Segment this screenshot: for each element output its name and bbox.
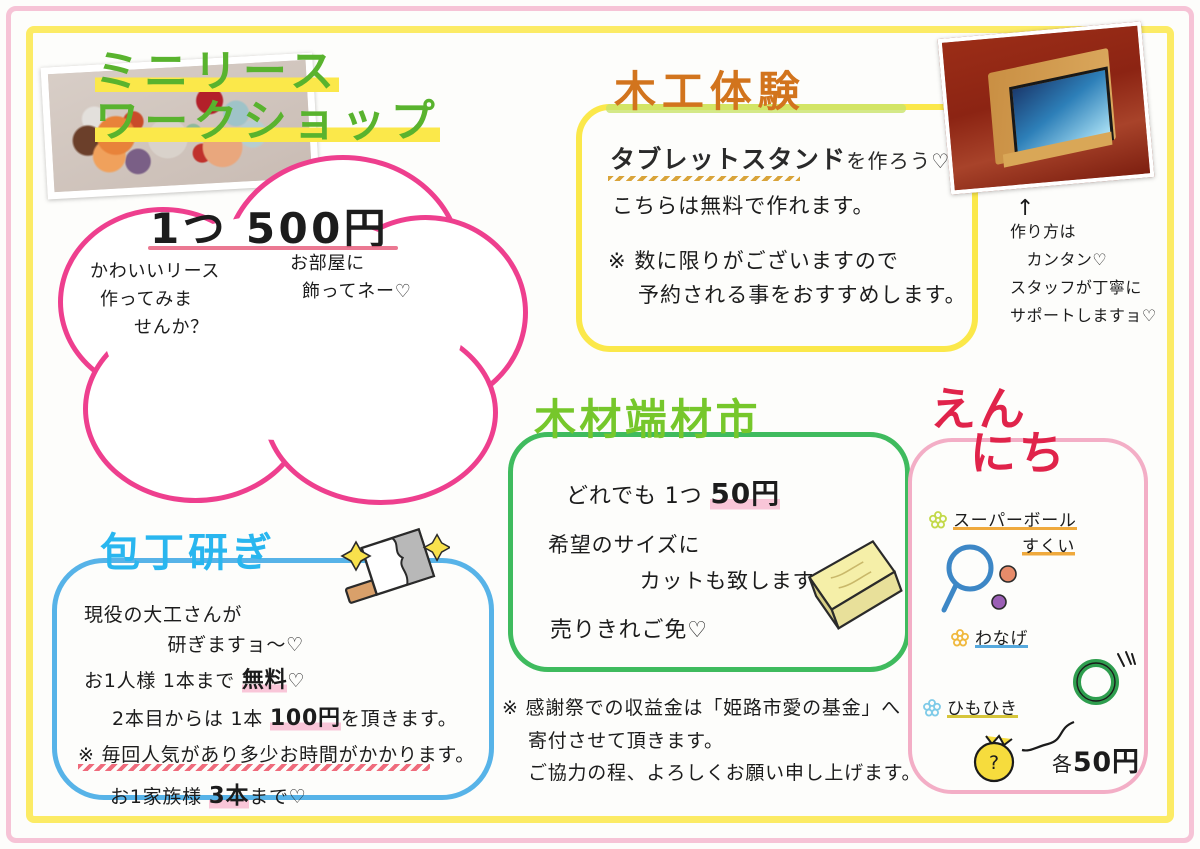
ennichi-title-line2: にち bbox=[970, 432, 1068, 476]
lumber-line2a: 希望のサイズに bbox=[548, 528, 834, 564]
donation-line3: ご協力の程、よろしくお願い申し上げます。 bbox=[528, 757, 921, 790]
tablet-stand-photo bbox=[938, 21, 1155, 194]
ennichi-item-superball: スーパーボール bbox=[928, 506, 1077, 531]
woodwork-lead: タブレットスタンドを作ろう♡ bbox=[610, 140, 950, 176]
lumber-line1-bold: 50円 bbox=[710, 477, 780, 510]
knife-line5-pre: お1家族様 bbox=[110, 786, 209, 808]
knife-line1a: 現役の大工さんが bbox=[84, 600, 304, 630]
mini-wreath-note-left-line3: せんか？ bbox=[134, 314, 220, 342]
knife-line2-post: ♡ bbox=[287, 670, 305, 692]
woodwork-line2: こちらは無料で作れます。 bbox=[612, 190, 875, 220]
woodwork-line3a: ※ 数に限りがございますので bbox=[608, 245, 967, 279]
lumber-line3: 売りきれご免♡ bbox=[550, 612, 708, 644]
ennichi-price: 各50円 bbox=[1052, 740, 1140, 779]
mini-wreath-note-right-line2: 飾ってネー♡ bbox=[302, 278, 412, 306]
ring-toss-icon bbox=[1068, 648, 1136, 708]
mini-wreath-title-line2: ワークショップ bbox=[95, 100, 440, 144]
ennichi-item-ringtoss: わなげ bbox=[950, 624, 1028, 649]
lumber-line1: どれでも 1つ 50円 bbox=[566, 472, 780, 512]
mini-wreath-note-right-line1: お部屋に bbox=[290, 250, 412, 278]
woodwork-line3: ※ 数に限りがございますので 予約される事をおすすめします。 bbox=[608, 245, 967, 312]
mini-wreath-note-left-line2: 作ってみま bbox=[100, 286, 220, 314]
tablet-note-line3: スタッフが丁寧に bbox=[1010, 274, 1157, 302]
tablet-note-line1: 作り方は bbox=[1010, 218, 1157, 246]
lumber-line1-pre: どれでも 1つ bbox=[566, 484, 710, 509]
knife-line5: お1家族様 3本まで♡ bbox=[110, 776, 307, 810]
ennichi-item-stringpull: ひもひき bbox=[922, 694, 1018, 719]
donation-note: ※ 感謝祭での収益金は「姫路市愛の基金」へ 寄付させて頂きます。 ご協力の程、よ… bbox=[502, 692, 921, 790]
svg-text:?: ? bbox=[989, 752, 999, 774]
wood-block-icon bbox=[800, 528, 910, 638]
lumber-market-title: 木材端材市 bbox=[534, 386, 761, 447]
knife-line2: お1人様 1本まで 無料♡ bbox=[84, 662, 305, 694]
mini-wreath-note-left: かわいいリース 作ってみま せんか？ bbox=[90, 258, 220, 342]
knife-line4: ※ 毎回人気があり多少お時間がかかります。 bbox=[78, 740, 475, 767]
ennichi-item-ringtoss-label: わなげ bbox=[975, 629, 1028, 649]
knife-icon bbox=[330, 512, 450, 617]
ennichi-price-bold: 50円 bbox=[1073, 747, 1140, 778]
flower-icon bbox=[922, 698, 942, 718]
knife-line3-pre: 2本目からは 1本 bbox=[112, 708, 270, 730]
tablet-note-line2: カンタン♡ bbox=[1010, 246, 1157, 274]
lumber-line2: 希望のサイズに カットも致します。 bbox=[548, 528, 834, 599]
woodwork-line3b: 予約される事をおすすめします。 bbox=[638, 279, 967, 313]
ennichi-item-superball-label: スーパーボール bbox=[953, 511, 1077, 531]
woodwork-lead-bold: タブレットスタンド bbox=[610, 145, 846, 174]
knife-line2-pre: お1人様 1本まで bbox=[84, 670, 242, 692]
ennichi-item-stringpull-label: ひもひき bbox=[947, 699, 1018, 719]
knife-line2-bold: 無料 bbox=[242, 668, 288, 693]
woodwork-lead-rest: を作ろう♡ bbox=[846, 149, 950, 173]
knife-line4-wave-underline bbox=[78, 764, 430, 771]
mini-wreath-note-left-line1: かわいいリース bbox=[90, 258, 220, 286]
knife-line3-post: を頂きます。 bbox=[341, 708, 458, 730]
mini-wreath-title: ミニリース ワークショップ bbox=[95, 50, 475, 144]
flower-icon bbox=[950, 628, 970, 648]
woodwork-lead-underline bbox=[608, 176, 800, 181]
knife-line5-post: まで♡ bbox=[249, 786, 306, 808]
woodwork-title: 木工体験 bbox=[614, 58, 806, 119]
ennichi-title: えん にち bbox=[930, 388, 1068, 475]
tablet-photo-note: 作り方は カンタン♡ スタッフが丁寧に サポートしますョ♡ bbox=[1010, 218, 1157, 330]
donation-line2: 寄付させて頂きます。 bbox=[528, 725, 921, 758]
knife-line1b: 研ぎますョ〜♡ bbox=[128, 630, 304, 660]
tablet-note-line4: サポートしますョ♡ bbox=[1010, 302, 1157, 330]
knife-line3-bold: 100円 bbox=[270, 706, 341, 731]
mini-wreath-note-right: お部屋に 飾ってネー♡ bbox=[290, 250, 412, 306]
scoop-net-icon bbox=[940, 540, 1036, 618]
knife-sharpening-title: 包丁研ぎ bbox=[100, 520, 276, 578]
knife-line1: 現役の大工さんが 研ぎますョ〜♡ bbox=[84, 600, 304, 661]
knife-line3: 2本目からは 1本 100円を頂きます。 bbox=[112, 700, 458, 732]
donation-line1: ※ 感謝祭での収益金は「姫路市愛の基金」へ bbox=[502, 697, 901, 719]
lumber-line2b: カットも致します。 bbox=[596, 564, 834, 600]
flower-icon bbox=[928, 510, 948, 530]
mini-wreath-title-line1: ミニリース bbox=[95, 50, 339, 94]
knife-line5-bold: 3本 bbox=[209, 783, 250, 809]
poster-canvas: ミニリース ワークショップ 1つ 500円 かわいいリース 作ってみま せんか？… bbox=[0, 0, 1200, 849]
ennichi-price-pre: 各 bbox=[1052, 752, 1073, 776]
